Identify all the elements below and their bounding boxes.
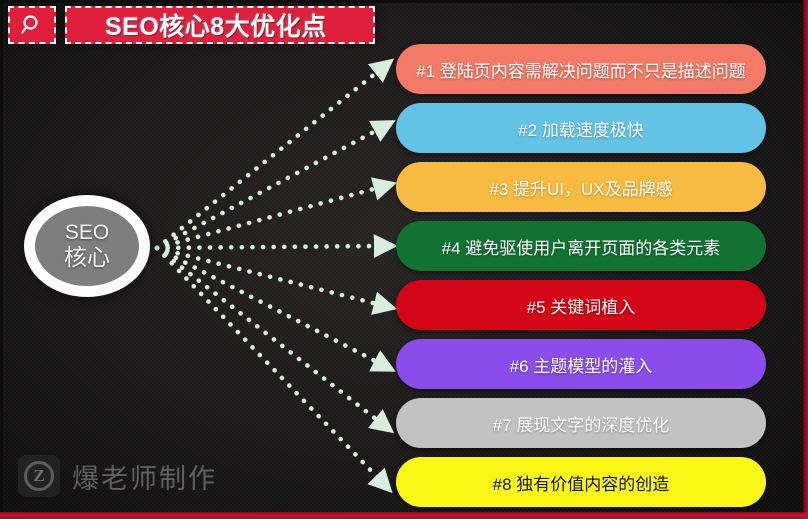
list-item-label: #7 展现文字的深度优化 bbox=[493, 411, 670, 436]
list-item[interactable]: #5 关键词植入 bbox=[396, 280, 766, 330]
page-title: SEO核心8大优化点 bbox=[65, 6, 375, 44]
list-item-label: #1 登陆页内容需解决问题而不只是描述问题 bbox=[416, 57, 746, 82]
list-item[interactable]: #2 加载速度极快 bbox=[396, 103, 766, 153]
core-label-line2: 核心 bbox=[64, 245, 110, 270]
list-item[interactable]: #1 登陆页内容需解决问题而不只是描述问题 bbox=[396, 44, 766, 94]
list-item[interactable]: #7 展现文字的深度优化 bbox=[396, 398, 766, 448]
list-item[interactable]: #4 避免驱使用户离开页面的各类元素 bbox=[396, 221, 766, 271]
watermark-logo-letter: Z bbox=[24, 461, 54, 491]
frame-edge-top bbox=[0, 0, 808, 3]
core-label-line1: SEO bbox=[65, 222, 109, 245]
search-icon bbox=[20, 13, 44, 37]
list-item[interactable]: #3 提升UI，UX及品牌感 bbox=[396, 162, 766, 212]
slide-canvas: SEO核心8大优化点 SEO 核心 #1 登陆页内容需解决问题而不只是描述问题 … bbox=[0, 0, 808, 519]
watermark: Z 爆老师制作 bbox=[18, 455, 217, 497]
seo-core-circle: SEO 核心 bbox=[24, 195, 150, 297]
optimization-point-list: #1 登陆页内容需解决问题而不只是描述问题 #2 加载速度极快 #3 提升UI，… bbox=[396, 44, 766, 516]
list-item-label: #8 独有价值内容的创造 bbox=[493, 470, 670, 495]
frame-edge-right bbox=[803, 0, 808, 519]
list-item[interactable]: #8 独有价值内容的创造 bbox=[396, 457, 766, 507]
list-item[interactable]: #6 主题模型的灌入 bbox=[396, 339, 766, 389]
search-icon-box[interactable] bbox=[8, 6, 56, 44]
list-item-label: #4 避免驱使用户离开页面的各类元素 bbox=[442, 234, 721, 259]
list-item-label: #5 关键词植入 bbox=[527, 293, 636, 318]
watermark-text: 爆老师制作 bbox=[72, 457, 217, 496]
page-title-text: SEO核心8大优化点 bbox=[105, 7, 327, 43]
list-item-label: #2 加载速度极快 bbox=[518, 116, 644, 141]
list-item-label: #3 提升UI，UX及品牌感 bbox=[489, 175, 672, 200]
header-bar: SEO核心8大优化点 bbox=[8, 6, 375, 44]
list-item-label: #6 主题模型的灌入 bbox=[510, 352, 653, 377]
frame-edge-left bbox=[0, 0, 3, 519]
watermark-logo-icon: Z bbox=[18, 455, 60, 497]
frame-edge-bottom bbox=[0, 512, 808, 519]
